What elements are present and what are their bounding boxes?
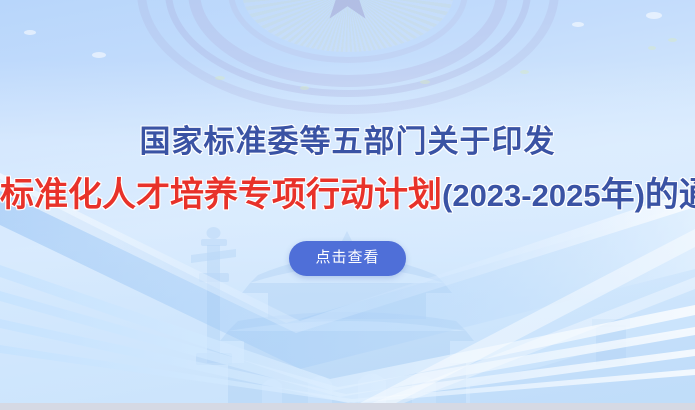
title-year-unit: 年 [601, 176, 635, 214]
title-plan-name: 标准化人才培养专项行动计划 [0, 176, 442, 214]
title-year-range: (2023-2025 [442, 178, 601, 213]
cta-wrapper: 点击查看 [0, 241, 695, 276]
title-suffix: 的通知 [645, 176, 695, 214]
title-line-2: 标准化人才培养专项行动计划(2023-2025年)的通知 [0, 162, 695, 217]
great-wall-silhouette [470, 319, 695, 403]
bottom-strip [0, 403, 695, 410]
announcement-banner: 国家标准委等五部门关于印发 标准化人才培养专项行动计划(2023-2025年)的… [0, 0, 695, 410]
gate-arches [262, 374, 436, 404]
title-line-1: 国家标准委等五部门关于印发 [0, 0, 695, 162]
view-details-button[interactable]: 点击查看 [289, 241, 405, 276]
banner-content: 国家标准委等五部门关于印发 标准化人才培养专项行动计划(2023-2025年)的… [0, 0, 695, 276]
title-year-close-paren: ) [635, 178, 645, 213]
